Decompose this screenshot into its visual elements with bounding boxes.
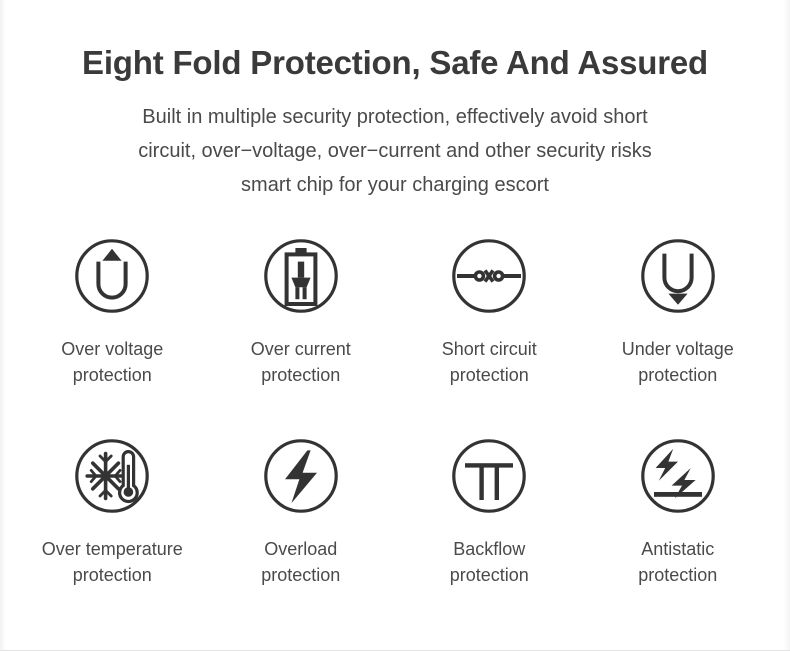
- feature-item-backflow: Backflow protection: [395, 436, 584, 588]
- backflow-icon: [449, 436, 529, 516]
- feature-label-line-2: protection: [42, 562, 183, 588]
- feature-item-antistatic: Antistatic protection: [584, 436, 773, 588]
- feature-label-line-1: Over current: [251, 339, 351, 359]
- feature-item-overload: Overload protection: [207, 436, 396, 588]
- antistatic-icon: [638, 436, 718, 516]
- feature-grid: Over voltage protection Over current pro…: [18, 236, 772, 588]
- feature-label: Short circuit protection: [442, 336, 537, 388]
- subtitle-line-3: smart chip for your charging escort: [0, 168, 790, 202]
- page-title: Eight Fold Protection, Safe And Assured: [0, 44, 790, 82]
- promo-banner: Eight Fold Protection, Safe And Assured …: [0, 0, 790, 651]
- feature-label-line-1: Over voltage: [61, 339, 163, 359]
- feature-row-1: Over voltage protection Over current pro…: [18, 236, 772, 436]
- feature-item-under-voltage: Under voltage protection: [584, 236, 773, 436]
- feature-label-line-2: protection: [261, 562, 340, 588]
- feature-label: Overload protection: [261, 536, 340, 588]
- feature-label: Over temperature protection: [42, 536, 183, 588]
- feature-label: Over voltage protection: [61, 336, 163, 388]
- over-current-battery-icon: [261, 236, 341, 316]
- feature-label-line-1: Under voltage: [622, 339, 734, 359]
- feature-label-line-2: protection: [251, 362, 351, 388]
- subtitle-line-1: Built in multiple security protection, e…: [0, 100, 790, 134]
- overload-bolt-icon: [261, 436, 341, 516]
- feature-label-line-2: protection: [622, 362, 734, 388]
- subtitle-block: Built in multiple security protection, e…: [0, 100, 790, 202]
- feature-item-over-voltage: Over voltage protection: [18, 236, 207, 436]
- feature-label-line-1: Antistatic: [641, 539, 714, 559]
- feature-label-line-1: Overload: [264, 539, 337, 559]
- feature-label-line-1: Over temperature: [42, 539, 183, 559]
- over-temperature-icon: [72, 436, 152, 516]
- feature-label-line-2: protection: [61, 362, 163, 388]
- feature-label: Antistatic protection: [638, 536, 717, 588]
- over-voltage-icon: [72, 236, 152, 316]
- feature-label-line-2: protection: [638, 562, 717, 588]
- subtitle-line-2: circuit, over−voltage, over−current and …: [0, 134, 790, 168]
- feature-label: Backflow protection: [450, 536, 529, 588]
- feature-label: Under voltage protection: [622, 336, 734, 388]
- short-circuit-icon: [449, 236, 529, 316]
- feature-label-line-1: Short circuit: [442, 339, 537, 359]
- feature-label-line-2: protection: [450, 562, 529, 588]
- feature-label: Over current protection: [251, 336, 351, 388]
- feature-row-2: Over temperature protection Overload pro…: [18, 436, 772, 588]
- feature-item-over-temperature: Over temperature protection: [18, 436, 207, 588]
- feature-label-line-1: Backflow: [453, 539, 525, 559]
- feature-item-over-current: Over current protection: [207, 236, 396, 436]
- under-voltage-icon: [638, 236, 718, 316]
- feature-label-line-2: protection: [442, 362, 537, 388]
- feature-item-short-circuit: Short circuit protection: [395, 236, 584, 436]
